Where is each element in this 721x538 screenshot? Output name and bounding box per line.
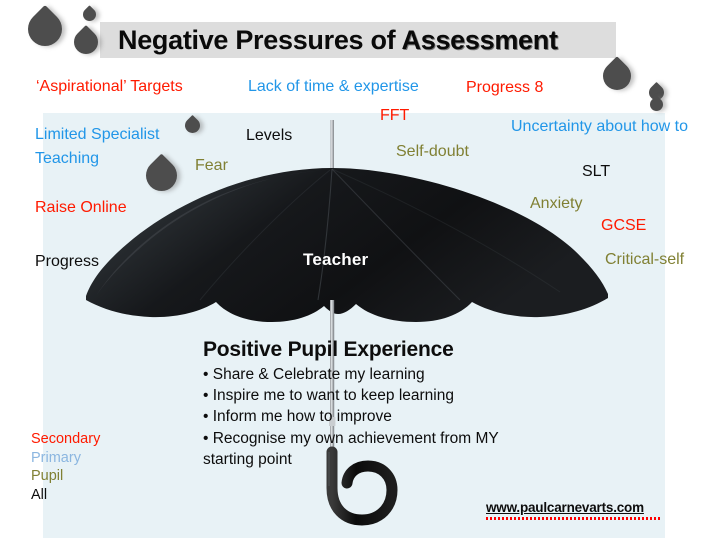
spellcheck-underline [486, 517, 662, 520]
pupil-experience-heading: Positive Pupil Experience [203, 338, 533, 362]
legend-item-all: All [31, 486, 100, 505]
pupil-experience-bullet: • Inform me how to improve [203, 406, 533, 427]
legend-item-primary: Primary [31, 449, 100, 468]
pupil-experience-bullet: • Inspire me to want to keep learning [203, 385, 533, 406]
pupil-experience-bullet: • Share & Celebrate my learning [203, 364, 533, 385]
slide-canvas: Negative Pressures of Assessment ‘Aspira… [0, 0, 721, 538]
legend: Secondary Primary Pupil All [31, 430, 100, 504]
legend-item-pupil: Pupil [31, 467, 100, 486]
website-url[interactable]: www.paulcarnevarts.com [486, 500, 644, 515]
legend-item-secondary: Secondary [31, 430, 100, 449]
pupil-experience-bullet: • Recognise my own achievement from MY s… [203, 428, 533, 470]
umbrella-canopy-label: Teacher [303, 250, 368, 270]
positive-pupil-experience-block: Positive Pupil Experience • Share & Cele… [203, 338, 533, 470]
